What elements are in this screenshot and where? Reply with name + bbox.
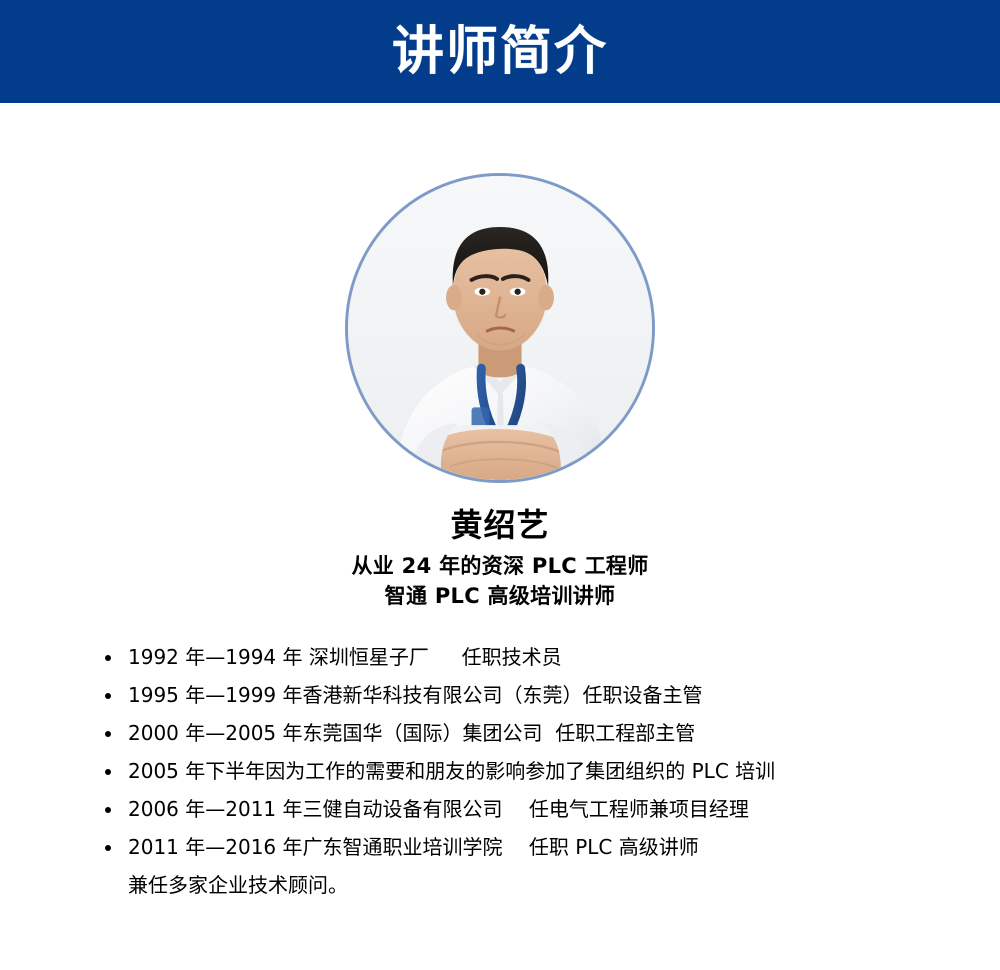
instructor-title-line-2: 智通 PLC 高级培训讲师: [0, 581, 1000, 611]
bio-list-item: 1995 年—1999 年香港新华科技有限公司（东莞）任职设备主管: [105, 676, 1000, 714]
bio-list-item: 2011 年—2016 年广东智通职业培训学院 任职 PLC 高级讲师 兼任多家…: [105, 828, 1000, 904]
instructor-titles: 从业 24 年的资深 PLC 工程师 智通 PLC 高级培训讲师: [0, 551, 1000, 612]
instructor-name: 黄绍艺: [0, 505, 1000, 545]
page-title: 讲师简介: [392, 26, 608, 78]
portrait-illustration: [348, 176, 652, 480]
portrait-section: [0, 173, 1000, 483]
profile-name-block: 黄绍艺 从业 24 年的资深 PLC 工程师 智通 PLC 高级培训讲师: [0, 505, 1000, 612]
instructor-title-line-1: 从业 24 年的资深 PLC 工程师: [0, 551, 1000, 581]
page-header-banner: 讲师简介: [0, 0, 1000, 103]
bio-list-item: 2000 年—2005 年东莞国华（国际）集团公司 任职工程部主管: [105, 714, 1000, 752]
bio-list-item: 2006 年—2011 年三健自动设备有限公司 任电气工程师兼项目经理: [105, 790, 1000, 828]
bio-list-item: 2005 年下半年因为工作的需要和朋友的影响参加了集团组织的 PLC 培训: [105, 752, 1000, 790]
instructor-portrait-photo: [345, 173, 655, 483]
bio-list-item: 1992 年—1994 年 深圳恒星子厂 任职技术员: [105, 638, 1000, 676]
instructor-bio-list: 1992 年—1994 年 深圳恒星子厂 任职技术员 1995 年—1999 年…: [0, 638, 1000, 904]
